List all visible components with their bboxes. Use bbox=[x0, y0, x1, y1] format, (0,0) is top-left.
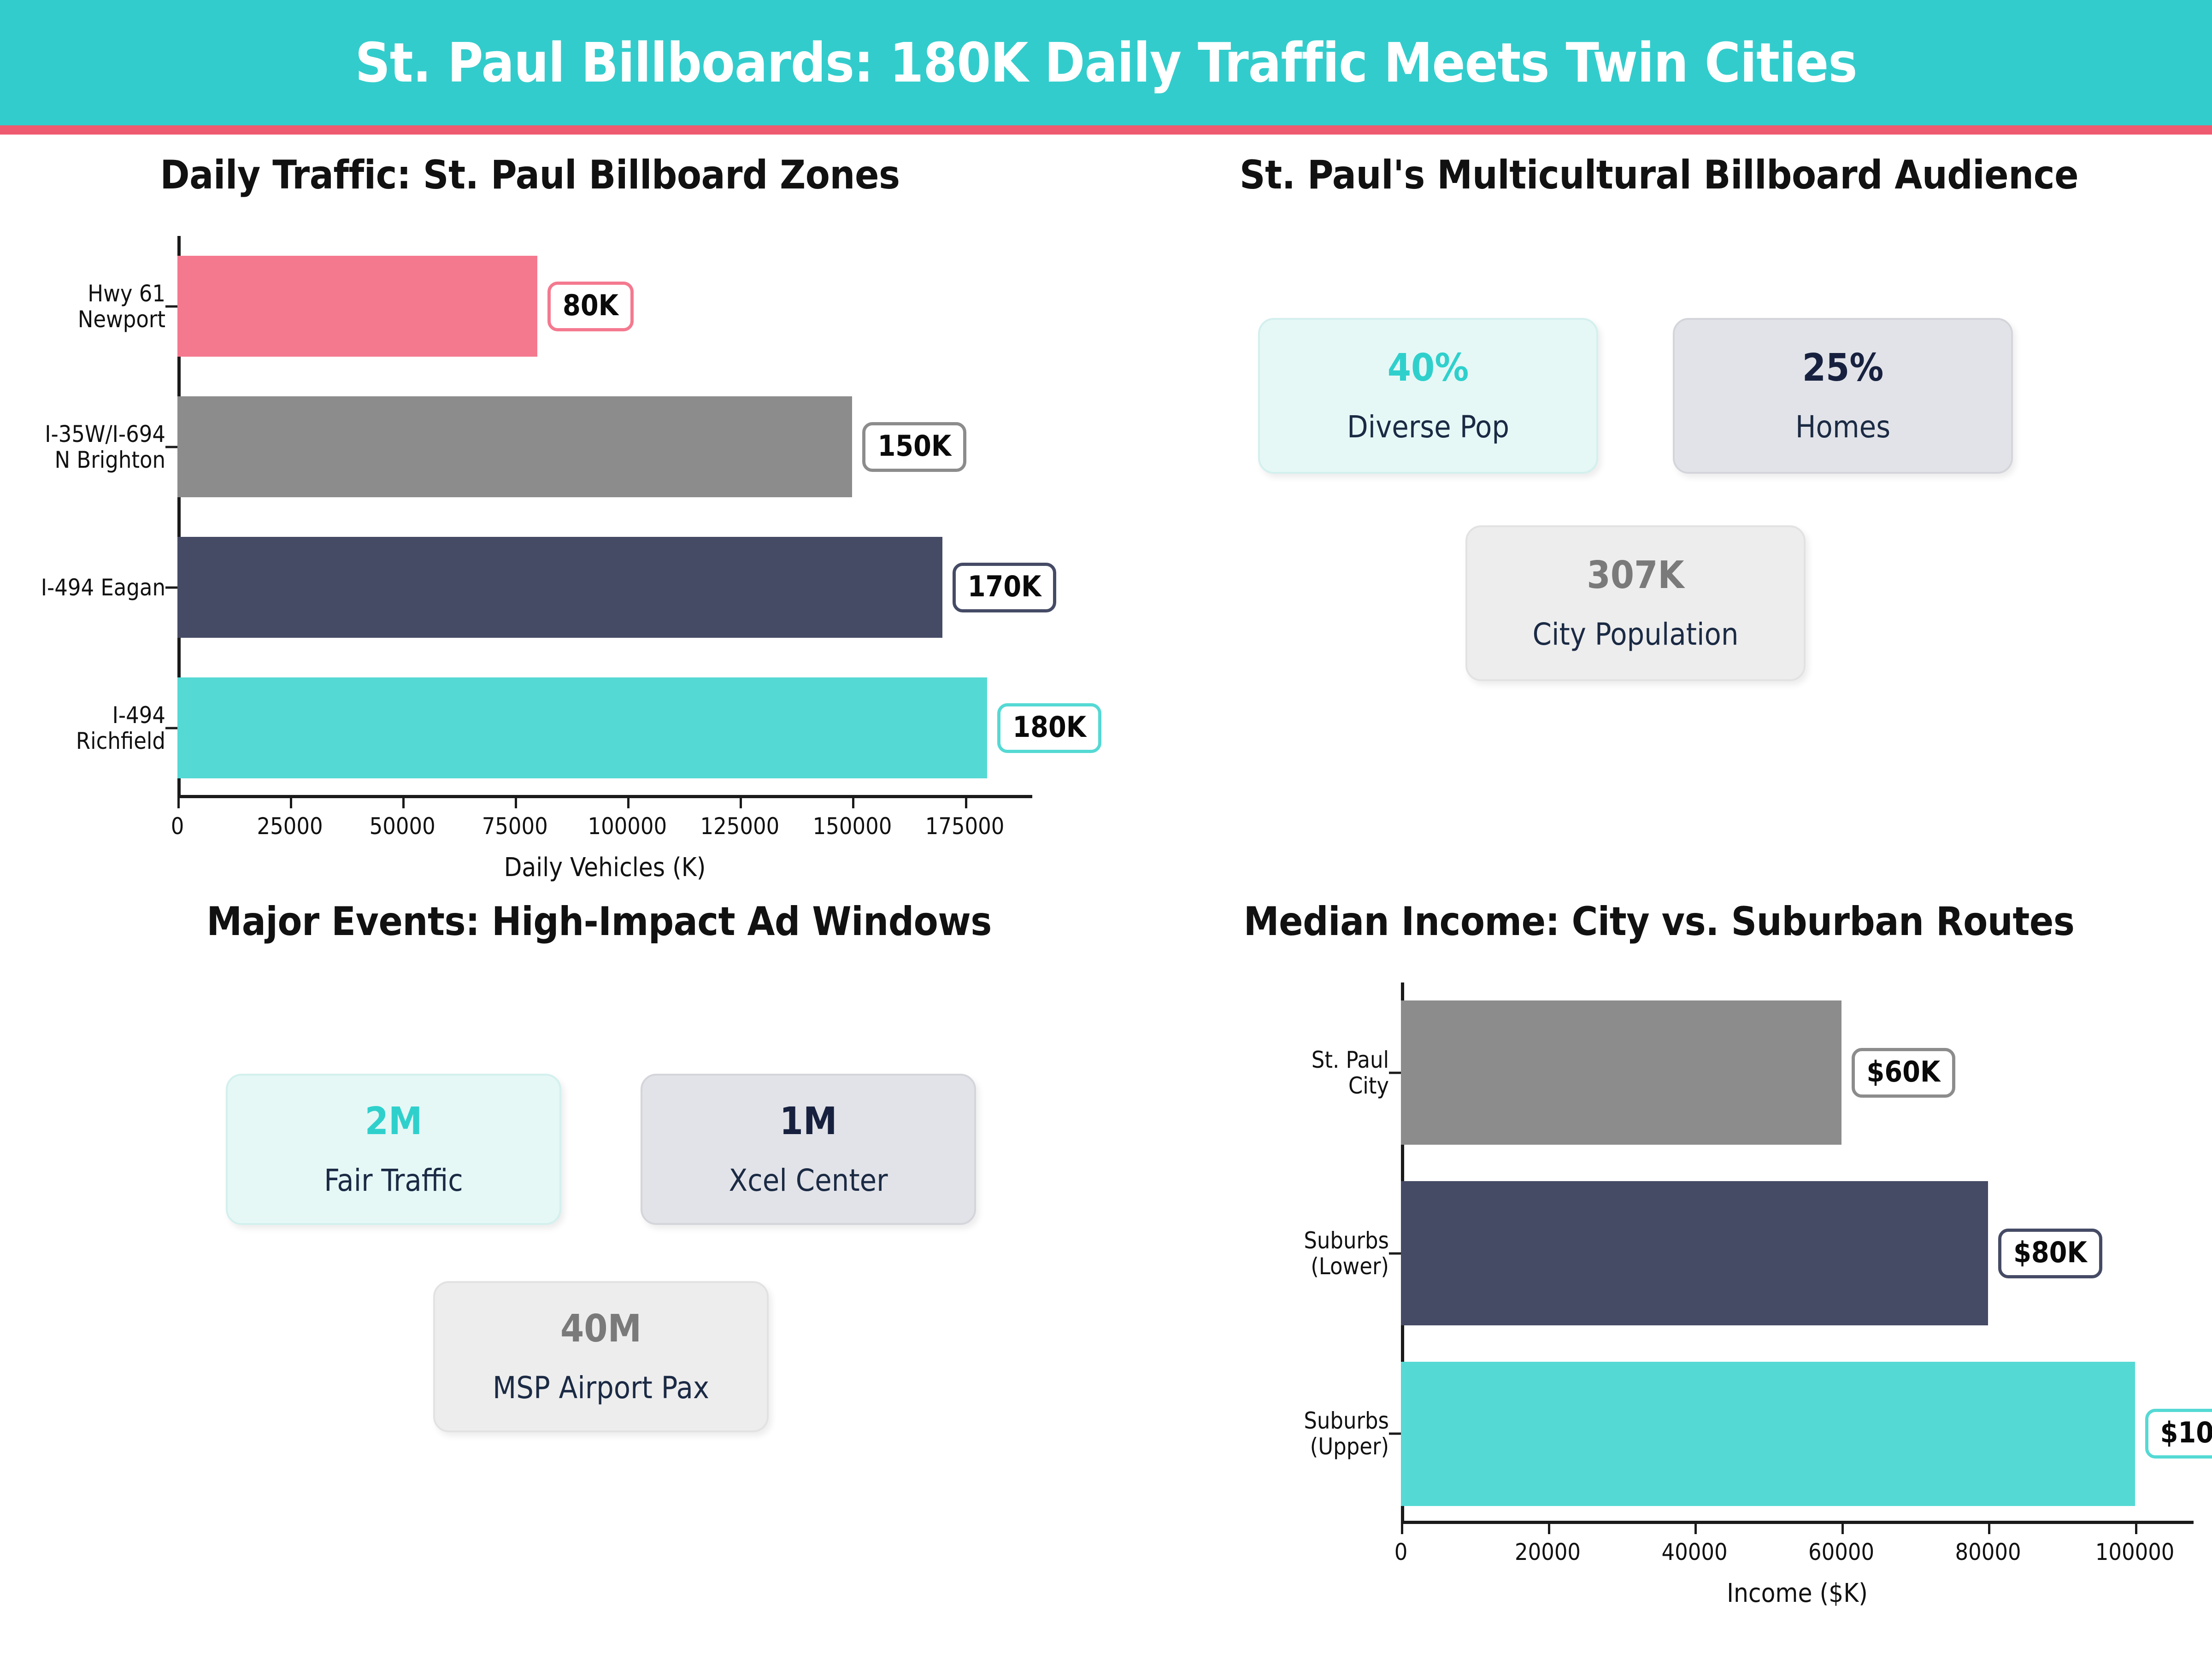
bar-value-label: $80K bbox=[1998, 1229, 2102, 1278]
y-tick-mark bbox=[1389, 1071, 1401, 1074]
bar-value-label: 170K bbox=[953, 563, 1057, 612]
kpi-card[interactable]: 1MXcel Center bbox=[641, 1074, 976, 1225]
bar-value-label: 150K bbox=[862, 422, 966, 472]
kpi-card[interactable]: 40MMSP Airport Pax bbox=[433, 1281, 769, 1432]
chart-daily-traffic: Hwy 61 Newport80KI-35W/I-694 N Brighton1… bbox=[0, 152, 1060, 871]
panel-daily-traffic: Daily Traffic: St. Paul Billboard Zones … bbox=[0, 152, 1060, 871]
bar[interactable] bbox=[177, 256, 537, 357]
y-tick-mark bbox=[165, 305, 177, 307]
bar[interactable] bbox=[177, 396, 852, 498]
x-tick-mark bbox=[402, 798, 405, 808]
x-axis-tick-label: 50000 bbox=[370, 813, 435, 840]
kpi-value: 2M bbox=[365, 1103, 423, 1141]
kpi-value: 1M bbox=[780, 1103, 837, 1141]
x-tick-mark bbox=[177, 798, 180, 808]
x-tick-mark bbox=[290, 798, 292, 808]
kpi-value: 40% bbox=[1388, 349, 1469, 387]
x-tick-mark bbox=[1401, 1524, 1403, 1534]
y-axis-tick-label: Hwy 61 Newport bbox=[78, 281, 165, 332]
kpi-card[interactable]: 307KCity Population bbox=[1465, 525, 1806, 681]
bar-row[interactable] bbox=[1401, 1362, 2194, 1506]
bar[interactable] bbox=[177, 537, 942, 638]
x-tick-mark bbox=[740, 798, 742, 808]
panel-median-income: Median Income: City vs. Suburban Routes … bbox=[1106, 899, 2212, 1645]
x-axis-tick-label: 175000 bbox=[925, 813, 1005, 840]
bar[interactable] bbox=[1401, 1362, 2135, 1506]
panel-events: Major Events: High-Impact Ad Windows 2MF… bbox=[92, 899, 1106, 1618]
x-tick-mark bbox=[852, 798, 854, 808]
plot-area: St. Paul City$60KSuburbs (Lower)$80KSubu… bbox=[1401, 982, 2194, 1524]
kpi-label: Fair Traffic bbox=[324, 1165, 463, 1196]
infographic-root: St. Paul Billboards: 180K Daily Traffic … bbox=[0, 0, 2212, 1659]
kpi-card[interactable]: 2MFair Traffic bbox=[226, 1074, 561, 1225]
x-axis-tick-label: 20000 bbox=[1515, 1539, 1581, 1565]
x-axis-tick-label: 60000 bbox=[1808, 1539, 1874, 1565]
panel-audience: St. Paul's Multicultural Billboard Audie… bbox=[1106, 152, 2212, 871]
chart-median-income: St. Paul City$60KSuburbs (Lower)$80KSubu… bbox=[1106, 899, 2212, 1645]
bar-row[interactable] bbox=[177, 677, 1032, 779]
y-tick-mark bbox=[1389, 1433, 1401, 1435]
x-axis-tick-label: 125000 bbox=[700, 813, 780, 840]
kpi-card-group-events: 2MFair Traffic1MXcel Center40MMSP Airpor… bbox=[92, 899, 1106, 1618]
y-axis-tick-label: I-494 Richfield bbox=[76, 702, 165, 754]
kpi-label: MSP Airport Pax bbox=[493, 1373, 709, 1403]
y-tick-mark bbox=[165, 727, 177, 729]
x-axis-tick-label: 80000 bbox=[1955, 1539, 2021, 1565]
x-tick-mark bbox=[965, 798, 967, 808]
x-tick-mark bbox=[1548, 1524, 1550, 1534]
x-tick-mark bbox=[1988, 1524, 1990, 1534]
bar-value-label: 80K bbox=[547, 282, 634, 331]
x-tick-mark bbox=[1694, 1524, 1697, 1534]
x-axis-tick-label: 25000 bbox=[257, 813, 323, 840]
y-axis-tick-label: Suburbs (Lower) bbox=[1304, 1228, 1389, 1279]
x-axis-tick-label: 0 bbox=[171, 813, 184, 840]
bar-value-label: $60K bbox=[1852, 1048, 1956, 1098]
x-axis-tick-label: 0 bbox=[1394, 1539, 1408, 1565]
y-tick-mark bbox=[1389, 1252, 1401, 1254]
kpi-label: Homes bbox=[1795, 412, 1890, 442]
x-tick-mark bbox=[515, 798, 517, 808]
kpi-label: City Population bbox=[1533, 619, 1739, 650]
kpi-card[interactable]: 40%Diverse Pop bbox=[1258, 318, 1598, 474]
x-axis-title: Daily Vehicles (K) bbox=[177, 853, 1032, 882]
x-axis-tick-label: 100000 bbox=[588, 813, 667, 840]
x-tick-mark bbox=[2135, 1524, 2137, 1534]
bar-row[interactable] bbox=[1401, 1000, 2194, 1145]
y-tick-mark bbox=[165, 446, 177, 448]
header-banner: St. Paul Billboards: 180K Daily Traffic … bbox=[0, 0, 2212, 125]
x-axis-spine bbox=[1401, 1521, 2194, 1524]
x-tick-mark bbox=[1841, 1524, 1844, 1534]
y-tick-mark bbox=[165, 586, 177, 588]
plot-area: Hwy 61 Newport80KI-35W/I-694 N Brighton1… bbox=[177, 236, 1032, 798]
kpi-value: 40M bbox=[560, 1310, 641, 1348]
x-axis-title: Income ($K) bbox=[1401, 1578, 2194, 1608]
x-axis-spine bbox=[177, 795, 1032, 798]
bar[interactable] bbox=[177, 677, 987, 779]
bar[interactable] bbox=[1401, 1181, 1988, 1325]
x-axis-tick-label: 75000 bbox=[482, 813, 548, 840]
bar-value-label: 180K bbox=[997, 703, 1101, 753]
x-axis-tick-label: 100000 bbox=[2095, 1539, 2175, 1565]
y-axis-tick-label: St. Paul City bbox=[1312, 1047, 1389, 1099]
bar-row[interactable] bbox=[177, 537, 1032, 638]
bar-value-label: $100K bbox=[2145, 1409, 2212, 1459]
x-axis-tick-label: 150000 bbox=[813, 813, 892, 840]
kpi-value: 307K bbox=[1587, 557, 1684, 594]
kpi-card[interactable]: 25%Homes bbox=[1673, 318, 2013, 474]
bar[interactable] bbox=[1401, 1000, 1841, 1145]
page-title: St. Paul Billboards: 180K Daily Traffic … bbox=[355, 35, 1857, 90]
kpi-label: Diverse Pop bbox=[1347, 412, 1509, 442]
y-axis-tick-label: Suburbs (Upper) bbox=[1304, 1408, 1389, 1459]
y-axis-tick-label: I-494 Eagan bbox=[41, 575, 165, 600]
x-axis-tick-label: 40000 bbox=[1661, 1539, 1727, 1565]
kpi-card-group-audience: 40%Diverse Pop25%Homes307KCity Populatio… bbox=[1106, 152, 2212, 871]
x-tick-mark bbox=[627, 798, 629, 808]
kpi-label: Xcel Center bbox=[729, 1165, 888, 1196]
kpi-value: 25% bbox=[1802, 349, 1884, 387]
header-accent-rule bbox=[0, 125, 2212, 135]
y-axis-tick-label: I-35W/I-694 N Brighton bbox=[45, 421, 165, 473]
